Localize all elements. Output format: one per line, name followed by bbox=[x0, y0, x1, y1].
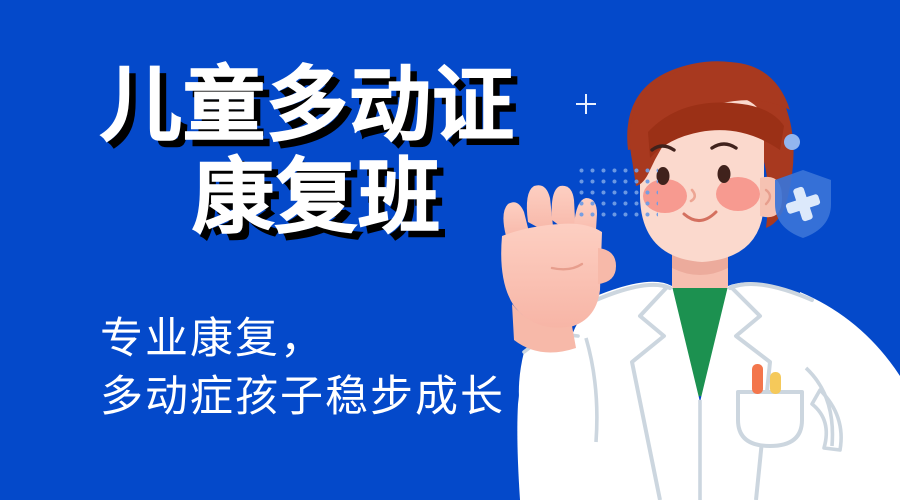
pen-yellow bbox=[770, 372, 781, 394]
shield-medical-cross-icon bbox=[772, 168, 834, 240]
coat-pocket bbox=[738, 392, 802, 446]
eye-right bbox=[718, 165, 731, 183]
eye-left bbox=[657, 167, 670, 185]
promo-banner: 儿童多动证 康复班 专业康复， 多动症孩子稳步成长 bbox=[0, 0, 900, 500]
circle-dot-icon bbox=[784, 134, 800, 150]
cartoon-doctor-illustration bbox=[0, 0, 900, 500]
plus-icon bbox=[574, 92, 598, 116]
pen-orange bbox=[752, 364, 763, 394]
dot-grid-pattern-icon bbox=[574, 163, 658, 219]
